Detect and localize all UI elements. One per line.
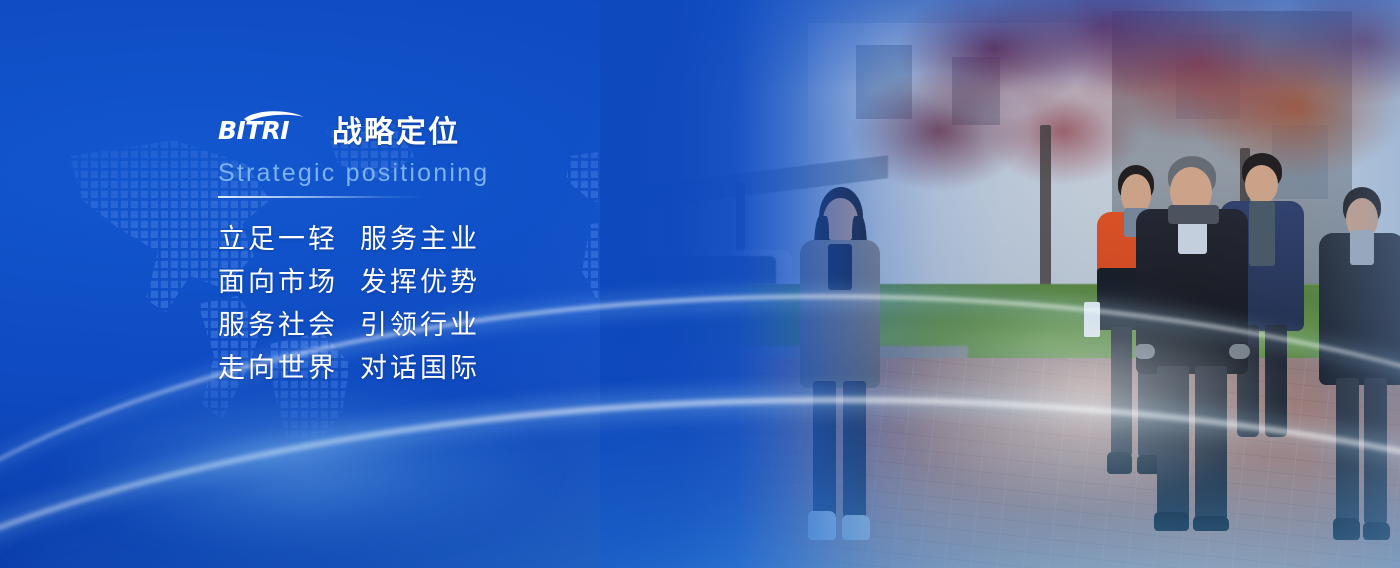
slogan-right: 对话国际 xyxy=(360,353,480,384)
page-title: 战略定位 xyxy=(332,116,460,150)
svg-text:BITRI: BITRI xyxy=(218,116,289,145)
slogan-line: 走向世界对话国际 xyxy=(218,347,778,390)
slogan-right: 发挥优势 xyxy=(360,267,480,298)
slogan-line: 立足一轻服务主业 xyxy=(218,218,778,261)
slogan-right: 服务主业 xyxy=(360,224,480,255)
slogan-left: 服务社会 xyxy=(218,310,338,341)
slogan-left: 立足一轻 xyxy=(218,224,338,255)
title-row: BITRI 战略定位 xyxy=(218,104,778,150)
slogan-left: 面向市场 xyxy=(218,267,338,298)
slogan-left: 走向世界 xyxy=(218,353,338,384)
strategic-positioning-banner: BITRI 战略定位 Strategic positioning 立足一轻服务主… xyxy=(0,0,1400,568)
title-divider xyxy=(218,196,423,198)
slogan-line: 面向市场发挥优势 xyxy=(218,261,778,304)
slogan-right: 引领行业 xyxy=(360,310,480,341)
banner-text-block: BITRI 战略定位 Strategic positioning 立足一轻服务主… xyxy=(218,104,778,390)
slogan-line: 服务社会引领行业 xyxy=(218,304,778,347)
bitri-logo: BITRI xyxy=(218,106,318,150)
page-subtitle: Strategic positioning xyxy=(218,158,778,188)
slogan-list: 立足一轻服务主业 面向市场发挥优势 服务社会引领行业 走向世界对话国际 xyxy=(218,218,778,390)
